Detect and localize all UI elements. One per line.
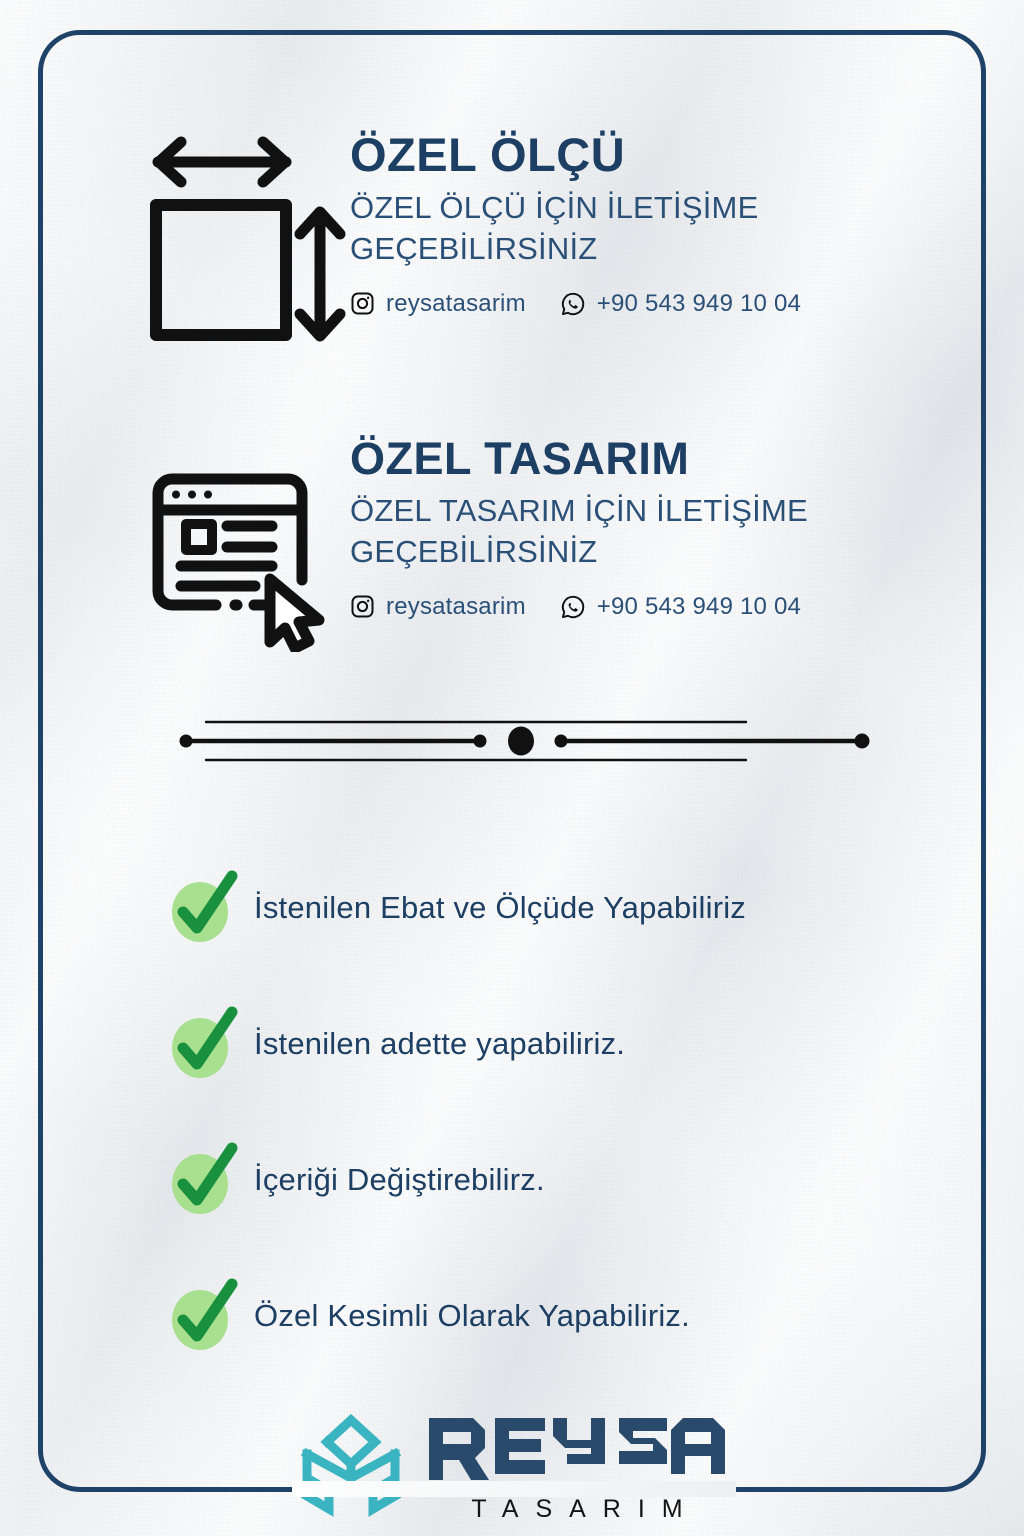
brand-tagline: TASARIM (427, 1495, 727, 1524)
whatsapp-contact[interactable]: +90 543 949 10 04 (560, 290, 801, 318)
poster-canvas: ÖZEL ÖLÇÜ ÖZEL ÖLÇÜ İÇİN İLETİŞİME GEÇEB… (0, 0, 1024, 1536)
whatsapp-number: +90 543 949 10 04 (597, 290, 801, 318)
brand-wordmark (427, 1416, 727, 1487)
list-item-label: İstenilen adette yapabiliriz. (254, 1026, 625, 1062)
whatsapp-contact[interactable]: +90 543 949 10 04 (560, 593, 801, 621)
list-item-label: İstenilen Ebat ve Ölçüde Yapabiliriz (254, 890, 746, 926)
contact-row: reysatasarim +90 543 949 10 04 (350, 290, 910, 318)
whatsapp-icon (560, 291, 586, 317)
reysa-cube-icon (297, 1412, 405, 1523)
service-subtitle: ÖZEL TASARIM İÇİN İLETİŞİME GEÇEBİLİRSİN… (350, 491, 910, 573)
instagram-icon (350, 594, 375, 619)
service-subtitle: ÖZEL ÖLÇÜ İÇİN İLETİŞİME GEÇEBİLİRSİNİZ (350, 188, 910, 270)
decorative-divider (178, 710, 870, 772)
instagram-handle: reysatasarim (386, 593, 526, 621)
list-item: İçeriği Değiştirebilirz. (168, 1112, 928, 1248)
service-title: ÖZEL TASARIM (350, 436, 910, 481)
instagram-handle: reysatasarim (386, 290, 526, 318)
green-check-icon (168, 870, 254, 946)
list-item: İstenilen Ebat ve Ölçüde Yapabiliriz (168, 840, 928, 976)
whatsapp-icon (560, 594, 586, 620)
instagram-contact[interactable]: reysatasarim (350, 290, 526, 318)
service-block-ozel-tasarim: ÖZEL TASARIM ÖZEL TASARIM İÇİN İLETİŞİME… (130, 430, 910, 652)
instagram-icon (350, 291, 375, 316)
border-logo-gap (292, 1481, 736, 1497)
list-item-label: İçeriği Değiştirebilirz. (254, 1162, 545, 1198)
contact-row: reysatasarim +90 543 949 10 04 (350, 593, 910, 621)
service-block-ozel-olcu: ÖZEL ÖLÇÜ ÖZEL ÖLÇÜ İÇİN İLETİŞİME GEÇEB… (130, 125, 910, 355)
instagram-contact[interactable]: reysatasarim (350, 593, 526, 621)
whatsapp-number: +90 543 949 10 04 (597, 593, 801, 621)
green-check-icon (168, 1006, 254, 1082)
green-check-icon (168, 1278, 254, 1354)
green-check-icon (168, 1142, 254, 1218)
list-item-label: Özel Kesimli Olarak Yapabiliriz. (254, 1298, 690, 1334)
service-title: ÖZEL ÖLÇÜ (350, 131, 910, 178)
feature-checklist: İstenilen Ebat ve Ölçüde Yapabiliriz İst… (168, 840, 928, 1384)
list-item: Özel Kesimli Olarak Yapabiliriz. (168, 1248, 928, 1384)
list-item: İstenilen adette yapabiliriz. (168, 976, 928, 1112)
dimensions-icon (130, 125, 350, 355)
web-design-icon (130, 430, 350, 652)
footer-logo: TASARIM (0, 1412, 1024, 1524)
